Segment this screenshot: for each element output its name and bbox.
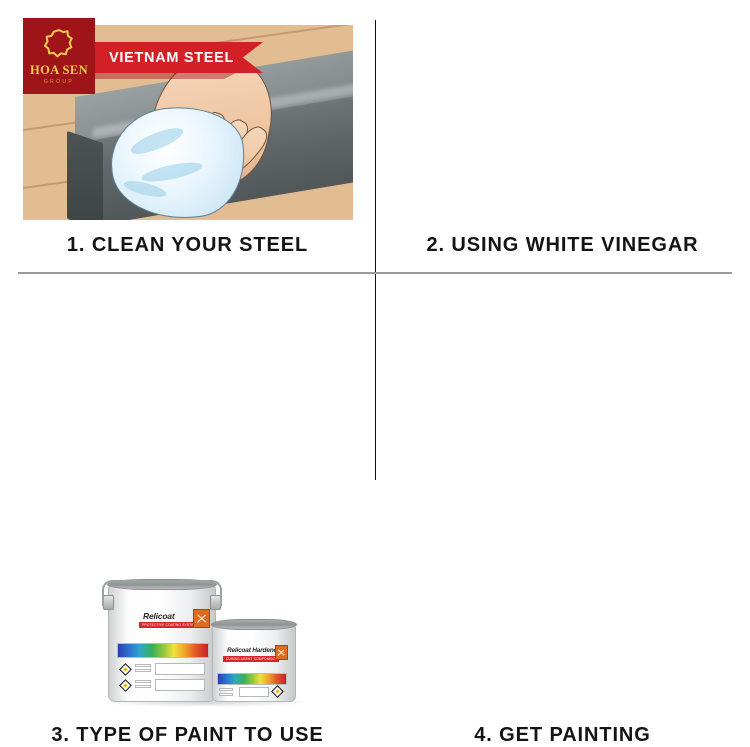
step-3-illustration: Relicoat PROTECTIVE COATING SYSTEM Relic… (60, 562, 360, 714)
label-text-line (135, 669, 151, 672)
label-text-box (239, 687, 269, 697)
can-brand-label: Relicoat (143, 611, 174, 621)
flammable-orange-square-icon (275, 645, 288, 660)
can-lid (211, 619, 297, 630)
step-card-3: Relicoat PROTECTIVE COATING SYSTEM Relic… (0, 274, 375, 500)
logo-wordmark: HOA SEN (30, 64, 88, 77)
step-2-caption: 2. USING WHITE VINEGAR (375, 234, 750, 257)
hazard-diamond-icon (119, 663, 132, 676)
hoa-sen-logo-badge: HOA SEN GROUP (23, 18, 95, 94)
banner-shadow (95, 73, 245, 79)
step-1-caption: 1. CLEAN YOUR STEEL (0, 234, 375, 257)
step-4-caption: 4. GET PAINTING (375, 724, 750, 747)
hazard-diamond-icon (119, 679, 132, 692)
lotus-flower-icon (42, 27, 76, 61)
label-text-box (155, 663, 205, 675)
steel-tube-open-end (67, 131, 103, 220)
paint-can-small: Relicoat Hardener CURING AGENT COMPONENT (212, 624, 296, 702)
label-text-line (135, 685, 151, 688)
can-subtitle-label: PROTECTIVE COATING SYSTEM (139, 622, 200, 628)
step-card-1: VIETNAM STEEL HOA SEN GROUP 1. CLEAN YOU… (0, 0, 375, 272)
flammable-orange-square-icon (193, 609, 210, 628)
can-wire-handle (102, 580, 222, 606)
logo-subtitle: GROUP (44, 79, 74, 85)
rainbow-color-strip (217, 673, 287, 685)
hazard-diamond-icon (271, 685, 284, 698)
step-card-2: Vinegar 2. USING WHITE VINEGAR (375, 0, 750, 272)
can-subtitle-label: CURING AGENT COMPONENT (223, 656, 279, 662)
banner-label: VIETNAM STEEL (95, 50, 234, 66)
rainbow-color-strip (117, 643, 209, 658)
can-brand-label: Relicoat Hardener (227, 647, 279, 654)
steel-painting-infographic: VIETNAM STEEL HOA SEN GROUP 1. CLEAN YOU… (0, 0, 750, 500)
label-text-line (219, 688, 233, 691)
label-text-line (219, 693, 233, 696)
label-text-line (135, 664, 151, 667)
label-text-line (135, 680, 151, 683)
step-3-caption: 3. TYPE OF PAINT TO USE (0, 724, 375, 747)
label-text-box (155, 679, 205, 691)
step-card-4: 4. GET PAINTING (375, 274, 750, 500)
vietnam-steel-banner: VIETNAM STEEL (95, 42, 263, 73)
